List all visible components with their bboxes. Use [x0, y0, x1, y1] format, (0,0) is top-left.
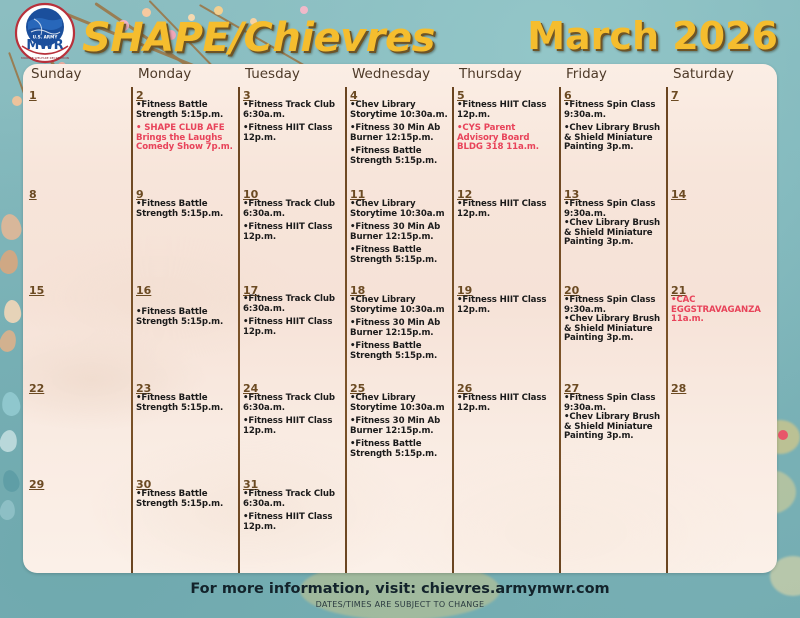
day-events: •Fitness Battle Strength 5:15p.m.	[136, 200, 234, 223]
event-item[interactable]: •Fitness Battle Strength 5:15p.m.	[136, 394, 234, 413]
army-mwr-logo: U.S. ARMY MWR MORALE WELFARE RECREATION	[14, 2, 76, 64]
calendar-day-cell[interactable]: 13•Fitness Spin Class 9:30a.m.•Chev Libr…	[564, 188, 662, 280]
event-item[interactable]: •Fitness HIIT Class 12p.m.	[243, 318, 341, 337]
calendar-day-cell[interactable]: 8	[29, 188, 127, 280]
day-number: 1	[29, 89, 37, 102]
event-item[interactable]: •Fitness Track Club 6:30a.m.	[243, 295, 341, 314]
day-events: •CAC EGGSTRAVAGANZA 11a.m.	[671, 296, 774, 329]
day-events: •Fitness Battle Strength 5:15p.m.	[136, 490, 234, 513]
day-number: 7	[671, 89, 679, 102]
day-events: •Fitness Track Club 6:30a.m.•Fitness HII…	[243, 490, 341, 536]
calendar-day-cell[interactable]: 14	[671, 188, 774, 280]
column-divider	[238, 87, 240, 573]
weekday-header-sunday: Sunday	[31, 66, 82, 82]
event-item[interactable]: •Fitness HIIT Class 12p.m.	[243, 513, 341, 532]
event-item[interactable]: •Fitness Battle Strength 5:15p.m.	[136, 101, 234, 120]
day-events: •Fitness HIIT Class 12p.m.•CYS Parent Ad…	[457, 101, 555, 157]
calendar-day-cell[interactable]: 11•Chev Library Storytime 10:30a.m•Fitne…	[350, 188, 448, 280]
page-header: U.S. ARMY MWR MORALE WELFARE RECREATION …	[0, 0, 800, 66]
event-item[interactable]: •Fitness HIIT Class 12p.m.	[457, 101, 555, 120]
calendar-day-cell[interactable]: 27•Fitness Spin Class 9:30a.m.•Chev Libr…	[564, 382, 662, 474]
event-item[interactable]: •Fitness 30 Min Ab Burner 12:15p.m.	[350, 417, 448, 436]
event-item[interactable]: •Fitness 30 Min Ab Burner 12:15p.m.	[350, 223, 448, 242]
calendar-day-cell[interactable]: 12•Fitness HIIT Class 12p.m.	[457, 188, 555, 280]
weekday-header-tuesday: Tuesday	[245, 66, 300, 82]
event-item[interactable]: •Fitness HIIT Class 12p.m.	[457, 394, 555, 413]
calendar-day-cell[interactable]: 7	[671, 89, 774, 184]
calendar-day-cell[interactable]: 6•Fitness Spin Class 9:30a.m.•Chev Libra…	[564, 89, 662, 184]
calendar-day-cell[interactable]: 1	[29, 89, 127, 184]
calendar-day-cell[interactable]: 15	[29, 284, 127, 378]
event-item[interactable]: •Chev Library Storytime 10:30a.m.	[350, 101, 448, 120]
calendar-day-cell[interactable]: 24•Fitness Track Club 6:30a.m.•Fitness H…	[243, 382, 341, 474]
column-divider	[131, 87, 133, 573]
calendar-day-cell[interactable]: 10•Fitness Track Club 6:30a.m.•Fitness H…	[243, 188, 341, 280]
day-events: •Fitness Spin Class 9:30a.m.•Chev Librar…	[564, 200, 662, 252]
day-number: 16	[136, 284, 151, 297]
day-events: •Fitness Battle Strength 5:15p.m.• SHAPE…	[136, 101, 234, 157]
calendar-day-cell[interactable]: 23•Fitness Battle Strength 5:15p.m.	[136, 382, 234, 474]
day-events: •Fitness Battle Strength 5:15p.m.	[136, 394, 234, 417]
event-item[interactable]: •Fitness 30 Min Ab Burner 12:15p.m.	[350, 124, 448, 143]
column-divider	[559, 87, 561, 573]
day-events: •Chev Library Storytime 10:30a.m•Fitness…	[350, 200, 448, 270]
calendar-day-cell[interactable]: 30•Fitness Battle Strength 5:15p.m.	[136, 478, 234, 571]
weekday-header-row: SundayMondayTuesdayWednesdayThursdayFrid…	[23, 64, 777, 87]
page-title: SHAPE/Chievres	[82, 15, 435, 61]
day-events: •Fitness Spin Class 9:30a.m.•Chev Librar…	[564, 296, 662, 348]
month-label: March 2026	[527, 14, 778, 58]
svg-text:MORALE WELFARE RECREATION: MORALE WELFARE RECREATION	[21, 56, 69, 60]
day-events: •Fitness Spin Class 9:30a.m.•Chev Librar…	[564, 101, 662, 157]
event-item[interactable]: •Fitness Spin Class 9:30a.m.	[564, 200, 662, 219]
event-item[interactable]: •Fitness Battle Strength 5:15p.m.	[350, 440, 448, 459]
event-item[interactable]: •Chev Library Brush & Shield Miniature P…	[564, 124, 662, 153]
day-events: •Chev Library Storytime 10:30a.m•Fitness…	[350, 394, 448, 464]
day-number: 22	[29, 382, 44, 395]
calendar-day-cell[interactable]: 31•Fitness Track Club 6:30a.m.•Fitness H…	[243, 478, 341, 571]
day-events: •Fitness Track Club 6:30a.m.•Fitness HII…	[243, 295, 341, 341]
day-events: •Chev Library Storytime 10:30a.m.•Fitnes…	[350, 101, 448, 171]
event-item[interactable]: •Fitness Battle Strength 5:15p.m.	[136, 490, 234, 509]
event-highlighted[interactable]: •CYS Parent Advisory Board BLDG 318 11a.…	[457, 124, 555, 153]
day-number: 15	[29, 284, 44, 297]
event-highlighted[interactable]: •CAC EGGSTRAVAGANZA 11a.m.	[671, 296, 774, 325]
event-item[interactable]: •Fitness HIIT Class 12p.m.	[243, 417, 341, 436]
day-number: 14	[671, 188, 686, 201]
event-item[interactable]: •Chev Library Storytime 10:30a.m	[350, 296, 448, 315]
event-item[interactable]: •Fitness Track Club 6:30a.m.	[243, 101, 341, 120]
calendar-day-cell[interactable]: 2•Fitness Battle Strength 5:15p.m.• SHAP…	[136, 89, 234, 184]
event-item[interactable]: •Chev Library Brush & Shield Miniature P…	[564, 219, 662, 248]
day-events: •Fitness HIIT Class 12p.m.	[457, 200, 555, 223]
day-events: •Chev Library Storytime 10:30a.m•Fitness…	[350, 296, 448, 366]
event-item[interactable]: •Fitness Spin Class 9:30a.m.	[564, 296, 662, 315]
footer-disclaimer: DATES/TIMES ARE SUBJECT TO CHANGE	[0, 600, 800, 609]
calendar-day-cell[interactable]: 26•Fitness HIIT Class 12p.m.	[457, 382, 555, 474]
calendar-day-cell[interactable]: 16•Fitness Battle Strength 5:15p.m.	[136, 284, 234, 378]
calendar-day-cell[interactable]: 4•Chev Library Storytime 10:30a.m.•Fitne…	[350, 89, 448, 184]
calendar-day-cell[interactable]: 22	[29, 382, 127, 474]
day-events: •Fitness Battle Strength 5:15p.m.	[136, 308, 234, 331]
event-item[interactable]: •Fitness Battle Strength 5:15p.m.	[350, 342, 448, 361]
weekday-header-thursday: Thursday	[459, 66, 522, 82]
event-item[interactable]: •Fitness Battle Strength 5:15p.m.	[136, 308, 234, 327]
column-divider	[345, 87, 347, 573]
calendar-day-cell[interactable]: 18•Chev Library Storytime 10:30a.m•Fitne…	[350, 284, 448, 378]
calendar-day-cell[interactable]: 5•Fitness HIIT Class 12p.m.•CYS Parent A…	[457, 89, 555, 184]
day-events: •Fitness Track Club 6:30a.m.•Fitness HII…	[243, 101, 341, 147]
event-item[interactable]: •Fitness Spin Class 9:30a.m.	[564, 394, 662, 413]
day-events: •Fitness Track Club 6:30a.m.•Fitness HII…	[243, 394, 341, 440]
calendar-day-cell[interactable]: 28	[671, 382, 774, 474]
event-item[interactable]: •Fitness Battle Strength 5:15p.m.	[350, 246, 448, 265]
day-events: •Fitness Track Club 6:30a.m.•Fitness HII…	[243, 200, 341, 246]
calendar-day-cell[interactable]: 29	[29, 478, 127, 571]
day-number: 8	[29, 188, 37, 201]
event-item[interactable]: •Chev Library Storytime 10:30a.m	[350, 394, 448, 413]
weekday-header-friday: Friday	[566, 66, 607, 82]
event-item[interactable]: •Fitness HIIT Class 12p.m.	[457, 296, 555, 315]
weekday-header-monday: Monday	[138, 66, 191, 82]
column-divider	[666, 87, 668, 573]
day-events: •Fitness Spin Class 9:30a.m.•Chev Librar…	[564, 394, 662, 446]
event-item[interactable]: •Fitness Spin Class 9:30a.m.	[564, 101, 662, 120]
calendar-day-cell[interactable]: 9•Fitness Battle Strength 5:15p.m.	[136, 188, 234, 280]
day-number: 28	[671, 382, 686, 395]
calendar-day-cell[interactable]: 3•Fitness Track Club 6:30a.m.•Fitness HI…	[243, 89, 341, 184]
event-item[interactable]: •Fitness Track Club 6:30a.m.	[243, 490, 341, 509]
event-item[interactable]: •Fitness Battle Strength 5:15p.m.	[350, 147, 448, 166]
calendar-day-cell[interactable]: 25•Chev Library Storytime 10:30a.m•Fitne…	[350, 382, 448, 474]
weekday-header-saturday: Saturday	[673, 66, 734, 82]
event-item[interactable]: •Chev Library Storytime 10:30a.m	[350, 200, 448, 219]
event-item[interactable]: •Fitness Track Club 6:30a.m.	[243, 394, 341, 413]
calendar-panel: SundayMondayTuesdayWednesdayThursdayFrid…	[23, 64, 777, 573]
day-number: 29	[29, 478, 44, 491]
calendar-day-cell[interactable]: 21•CAC EGGSTRAVAGANZA 11a.m.	[671, 284, 774, 378]
day-events: •Fitness HIIT Class 12p.m.	[457, 296, 555, 319]
bud-decoration	[12, 96, 22, 106]
calendar-day-cell[interactable]: 17•Fitness Track Club 6:30a.m.•Fitness H…	[243, 284, 341, 378]
calendar-day-cell[interactable]: 20•Fitness Spin Class 9:30a.m.•Chev Libr…	[564, 284, 662, 378]
event-item[interactable]: •Fitness HIIT Class 12p.m.	[457, 200, 555, 219]
calendar-day-cell[interactable]: 19•Fitness HIIT Class 12p.m.	[457, 284, 555, 378]
event-highlighted[interactable]: • SHAPE CLUB AFE Brings the Laughs Comed…	[136, 124, 234, 153]
day-events: •Fitness HIIT Class 12p.m.	[457, 394, 555, 417]
event-item[interactable]: •Fitness 30 Min Ab Burner 12:15p.m.	[350, 319, 448, 338]
event-item[interactable]: •Fitness HIIT Class 12p.m.	[243, 124, 341, 143]
bud-decoration	[778, 430, 788, 440]
column-divider	[452, 87, 454, 573]
footer-info: For more information, visit: chievres.ar…	[0, 581, 800, 597]
event-item[interactable]: •Chev Library Brush & Shield Miniature P…	[564, 413, 662, 442]
event-item[interactable]: •Chev Library Brush & Shield Miniature P…	[564, 315, 662, 344]
event-item[interactable]: •Fitness Track Club 6:30a.m.	[243, 200, 341, 219]
weekday-header-wednesday: Wednesday	[352, 66, 430, 82]
event-item[interactable]: •Fitness HIIT Class 12p.m.	[243, 223, 341, 242]
event-item[interactable]: •Fitness Battle Strength 5:15p.m.	[136, 200, 234, 219]
